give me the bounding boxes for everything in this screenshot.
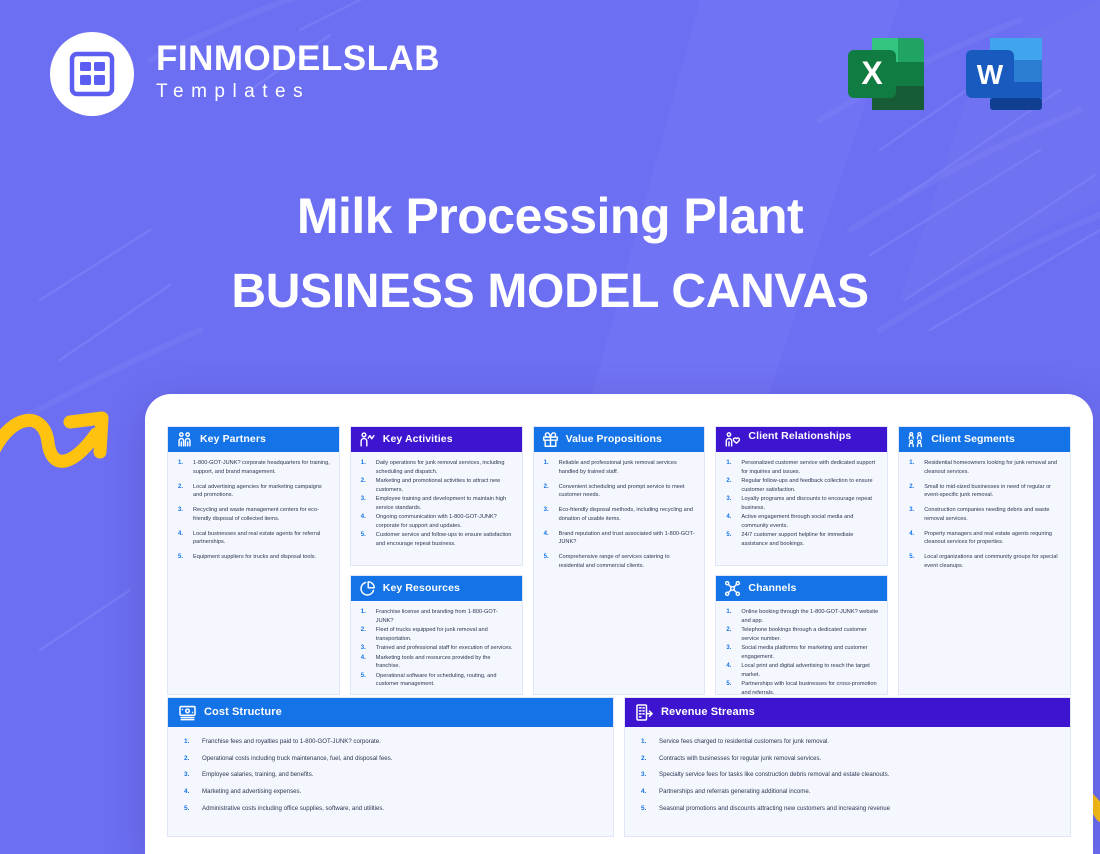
card-key-partners[interactable]: Key Partners 1-800-GOT-JUNK? corporate h… <box>167 426 340 695</box>
list-item: Seasonal promotions and discounts attrac… <box>637 804 1060 813</box>
list-item: Marketing tools and resources provided b… <box>359 654 514 671</box>
list-item: Daily operations for junk removal servic… <box>359 459 514 476</box>
word-icon: W <box>960 30 1048 118</box>
excel-icon: X <box>842 30 930 118</box>
network-nodes-icon <box>724 580 741 597</box>
list-item: Loyalty programs and discounts to encour… <box>724 495 879 512</box>
card-value-propositions[interactable]: Value Propositions Reliable and professi… <box>533 426 706 695</box>
card-body-value-propositions: Reliable and professional junk removal s… <box>534 452 705 694</box>
person-activity-icon <box>359 431 376 448</box>
list-item: Property managers and real estate agents… <box>907 530 1062 547</box>
squiggly-arrow-up-right-icon <box>0 404 122 501</box>
brand-name: FINMODELSLAB <box>156 41 440 78</box>
list-item: Contracts with businesses for regular ju… <box>637 754 1060 763</box>
list-item: Customer service and follow-ups to ensur… <box>359 531 514 548</box>
card-body-key-activities: Daily operations for junk removal servic… <box>351 452 522 565</box>
list-item: Franchise license and branding from 1-80… <box>359 608 514 625</box>
list-item: Brand reputation and trust associated wi… <box>542 530 697 547</box>
list-item: Local organizations and community groups… <box>907 553 1062 570</box>
card-header-key-activities: Key Activities <box>351 427 522 452</box>
card-header-cost-structure: Cost Structure <box>168 698 613 727</box>
list-client-relationships: Personalized customer service with dedic… <box>724 459 879 548</box>
list-item: Recycling and waste management centers f… <box>176 506 331 523</box>
gift-icon <box>542 431 559 448</box>
list-item: Administrative costs including office su… <box>180 804 603 813</box>
money-bill-icon <box>178 703 197 722</box>
column-key-activities-resources: Key Activities Daily operations for junk… <box>350 426 523 695</box>
list-key-partners: 1-800-GOT-JUNK? corporate headquarters f… <box>176 459 331 562</box>
page-title: Milk Processing Plant <box>0 186 1100 246</box>
card-key-resources[interactable]: Key Resources Franchise license and bran… <box>350 575 523 695</box>
brand-logo: FINMODELSLAB Templates <box>50 32 440 116</box>
list-item: Employee salaries, training, and benefit… <box>180 770 603 779</box>
card-revenue-streams[interactable]: Revenue Streams Service fees charged to … <box>624 697 1071 837</box>
list-value-propositions: Reliable and professional junk removal s… <box>542 459 697 570</box>
page-subtitle: BUSINESS MODEL CANVAS <box>0 262 1100 322</box>
list-item: Ongoing communication with 1-800-GOT-JUN… <box>359 513 514 530</box>
card-body-cost-structure: Franchise fees and royalties paid to 1-8… <box>168 727 613 836</box>
card-title-client-relationships: Client Relationships <box>748 431 851 443</box>
list-item: Partnerships with local businesses for c… <box>724 680 879 695</box>
card-title-key-resources: Key Resources <box>383 583 460 595</box>
card-client-segments[interactable]: Client Segments Residential homeowners l… <box>898 426 1071 695</box>
column-key-partners: Key Partners 1-800-GOT-JUNK? corporate h… <box>167 426 340 695</box>
people-group-icon <box>907 431 924 448</box>
list-client-segments: Residential homeowners looking for junk … <box>907 459 1062 570</box>
list-item: Personalized customer service with dedic… <box>724 459 879 476</box>
svg-text:W: W <box>977 59 1004 90</box>
app-icons-group: X W <box>842 30 1048 118</box>
person-heart-icon <box>724 431 741 448</box>
list-item: Franchise fees and royalties paid to 1-8… <box>180 737 603 746</box>
card-title-channels: Channels <box>748 583 796 595</box>
list-item: 1-800-GOT-JUNK? corporate headquarters f… <box>176 459 331 476</box>
card-key-activities[interactable]: Key Activities Daily operations for junk… <box>350 426 523 566</box>
list-revenue-streams: Service fees charged to residential cust… <box>637 737 1060 813</box>
list-item: Specialty service fees for tasks like co… <box>637 770 1060 779</box>
list-item: Service fees charged to residential cust… <box>637 737 1060 746</box>
grid-squares-icon <box>50 32 134 116</box>
pie-chart-icon <box>359 580 376 597</box>
card-title-cost-structure: Cost Structure <box>204 706 282 718</box>
card-body-channels: Online booking through the 1-800-GOT-JUN… <box>716 601 887 694</box>
list-key-resources: Franchise license and branding from 1-80… <box>359 608 514 689</box>
card-header-channels: Channels <box>716 576 887 601</box>
card-header-key-partners: Key Partners <box>168 427 339 452</box>
list-item: Equipment suppliers for trucks and dispo… <box>176 553 331 562</box>
card-header-client-relationships: Client Relationships <box>716 427 887 452</box>
card-header-key-resources: Key Resources <box>351 576 522 601</box>
card-header-client-segments: Client Segments <box>899 427 1070 452</box>
list-item: Small to mid-sized businesses in need of… <box>907 483 1062 500</box>
card-cost-structure[interactable]: Cost Structure Franchise fees and royalt… <box>167 697 614 837</box>
list-item: Fleet of trucks equipped for junk remova… <box>359 626 514 643</box>
brand-subtitle: Templates <box>156 78 440 107</box>
svg-text:X: X <box>861 55 883 91</box>
card-body-key-resources: Franchise license and branding from 1-80… <box>351 601 522 694</box>
list-item: Convenient scheduling and prompt service… <box>542 483 697 500</box>
list-item: Residential homeowners looking for junk … <box>907 459 1062 476</box>
card-body-client-relationships: Personalized customer service with dedic… <box>716 452 887 565</box>
list-item: Construction companies needing debris an… <box>907 506 1062 523</box>
two-people-icon <box>176 431 193 448</box>
card-header-value-propositions: Value Propositions <box>534 427 705 452</box>
list-item: Local businesses and real estate agents … <box>176 530 331 547</box>
list-item: Trained and professional staff for execu… <box>359 644 514 653</box>
list-item: 24/7 customer support helpline for immed… <box>724 531 879 548</box>
canvas-top-grid: Key Partners 1-800-GOT-JUNK? corporate h… <box>167 426 1071 688</box>
list-item: Regular follow-ups and feedback collecti… <box>724 477 879 494</box>
list-item: Social media platforms for marketing and… <box>724 644 879 661</box>
list-cost-structure: Franchise fees and royalties paid to 1-8… <box>180 737 603 813</box>
list-item: Online booking through the 1-800-GOT-JUN… <box>724 608 879 625</box>
card-body-client-segments: Residential homeowners looking for junk … <box>899 452 1070 694</box>
list-item: Partnerships and referrals generating ad… <box>637 787 1060 796</box>
card-title-revenue-streams: Revenue Streams <box>661 706 755 718</box>
card-header-revenue-streams: Revenue Streams <box>625 698 1070 727</box>
list-channels: Online booking through the 1-800-GOT-JUN… <box>724 608 879 695</box>
column-client-segments: Client Segments Residential homeowners l… <box>898 426 1071 695</box>
list-item: Local print and digital advertising to r… <box>724 662 879 679</box>
business-model-canvas-board: Key Partners 1-800-GOT-JUNK? corporate h… <box>145 394 1093 854</box>
column-client-relationships-channels: Client Relationships Personalized custom… <box>715 426 888 695</box>
card-title-key-activities: Key Activities <box>383 434 453 446</box>
card-title-key-partners: Key Partners <box>200 434 266 446</box>
list-item: Employee training and development to mai… <box>359 495 514 512</box>
list-item: Telephone bookings through a dedicated c… <box>724 626 879 643</box>
card-title-client-segments: Client Segments <box>931 434 1015 446</box>
list-item: Comprehensive range of services catering… <box>542 553 697 570</box>
canvas-bottom-grid: Cost Structure Franchise fees and royalt… <box>167 697 1071 837</box>
cash-flow-icon <box>635 703 654 722</box>
list-item: Reliable and professional junk removal s… <box>542 459 697 476</box>
list-item: Operational costs including truck mainte… <box>180 754 603 763</box>
column-value-propositions: Value Propositions Reliable and professi… <box>533 426 706 695</box>
card-client-relationships[interactable]: Client Relationships Personalized custom… <box>715 426 888 566</box>
list-item: Marketing and promotional activities to … <box>359 477 514 494</box>
card-title-value-propositions: Value Propositions <box>566 434 662 446</box>
card-channels[interactable]: Channels Online booking through the 1-80… <box>715 575 888 695</box>
card-body-key-partners: 1-800-GOT-JUNK? corporate headquarters f… <box>168 452 339 694</box>
page-title-block: Milk Processing Plant BUSINESS MODEL CAN… <box>0 186 1100 322</box>
list-item: Marketing and advertising expenses. <box>180 787 603 796</box>
list-item: Active engagement through social media a… <box>724 513 879 530</box>
card-body-revenue-streams: Service fees charged to residential cust… <box>625 727 1070 836</box>
list-item: Eco-friendly disposal methods, including… <box>542 506 697 523</box>
list-item: Local advertising agencies for marketing… <box>176 483 331 500</box>
list-key-activities: Daily operations for junk removal servic… <box>359 459 514 548</box>
list-item: Operational software for scheduling, rou… <box>359 672 514 689</box>
